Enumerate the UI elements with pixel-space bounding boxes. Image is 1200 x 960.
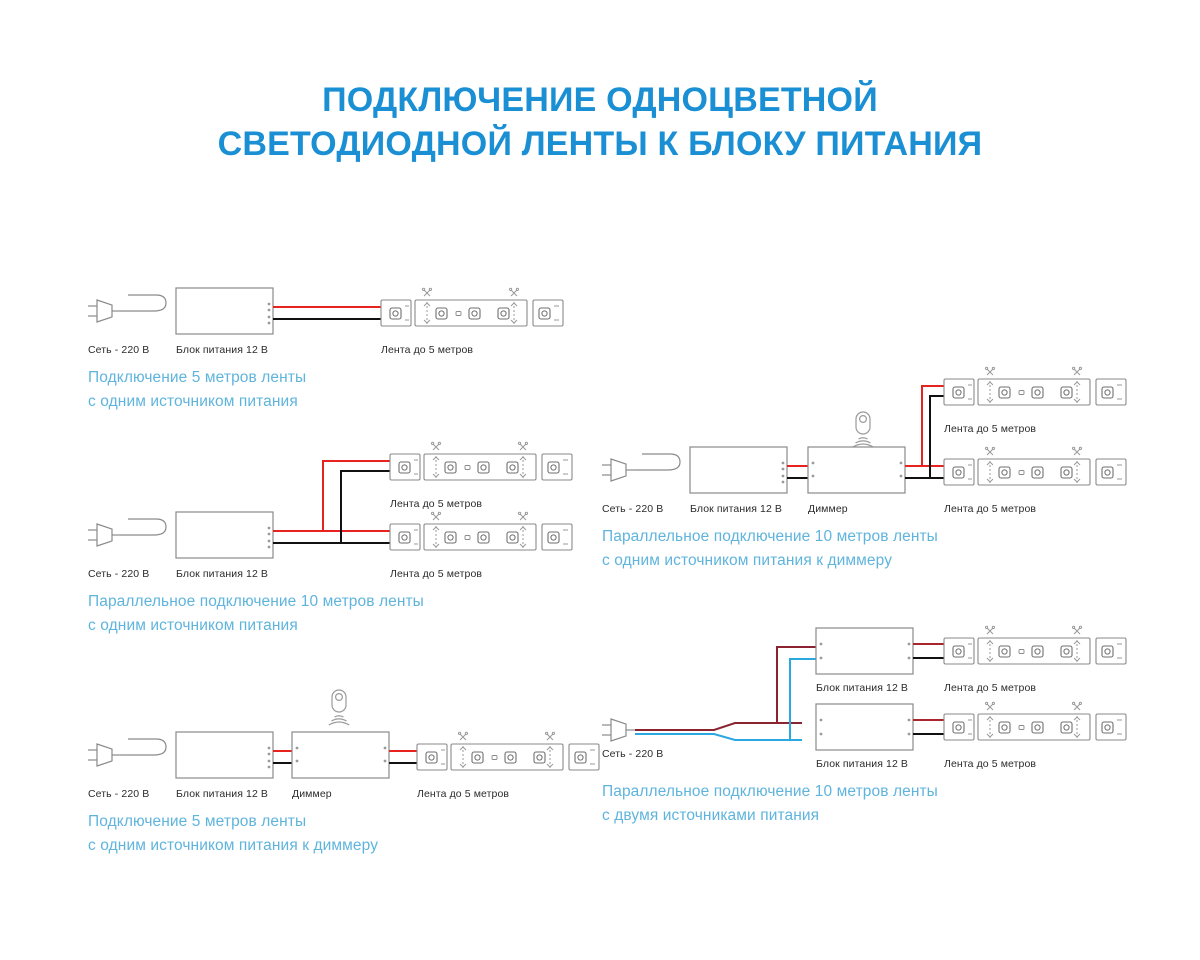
dc-wires-lower	[913, 720, 947, 734]
led-strip-upper	[390, 442, 572, 480]
dc-wires	[273, 307, 384, 319]
psu-to-dimmer-wires	[273, 751, 293, 763]
diagram-single-strip-one-psu-dimmer: Сеть - 220 В Блок питания 12 В Диммер Ле…	[88, 690, 608, 840]
power-supply-unit	[176, 288, 273, 334]
label-strip: Лента до 5 метров	[381, 344, 473, 356]
plug-icon	[88, 519, 166, 546]
led-strip	[381, 288, 563, 326]
diagram-1-schematic	[88, 286, 588, 356]
led-strip-upper	[944, 367, 1126, 405]
led-strip	[417, 732, 599, 770]
diagram-4-schematic	[602, 365, 1162, 505]
infographic-page: ПОДКЛЮЧЕНИЕ ОДНОЦВЕТНОЙ СВЕТОДИОДНОЙ ЛЕН…	[0, 0, 1200, 960]
label-strip-lower: Лента до 5 метров	[390, 568, 482, 580]
plug-icon	[88, 295, 166, 322]
plug-icon	[88, 739, 166, 766]
dimmer-to-strip-wires	[389, 751, 420, 763]
power-supply-unit-upper	[816, 628, 913, 674]
diagram-parallel-two-strips-one-psu: Сеть - 220 В Блок питания 12 В Лента до …	[88, 440, 608, 620]
dc-wires-branching	[905, 386, 947, 478]
diagram-2-schematic	[88, 440, 608, 570]
label-psu-upper: Блок питания 12 В	[816, 682, 908, 694]
label-strip-upper: Лента до 5 метров	[944, 423, 1036, 435]
label-mains: Сеть - 220 В	[602, 503, 663, 515]
plug-icon	[602, 454, 680, 481]
power-supply-unit	[176, 732, 273, 778]
diagram-parallel-two-strips-one-psu-dimmer: Сеть - 220 В Блок питания 12 В Диммер Ле…	[602, 365, 1162, 565]
power-supply-unit-lower	[816, 704, 913, 750]
label-psu: Блок питания 12 В	[176, 788, 268, 800]
label-mains: Сеть - 220 В	[88, 568, 149, 580]
power-supply-unit	[176, 512, 273, 558]
diagram-single-strip-one-psu: Сеть - 220 В Блок питания 12 В Лента до …	[88, 286, 588, 406]
label-strip: Лента до 5 метров	[417, 788, 509, 800]
dc-wires-branching	[273, 461, 393, 543]
remote-control-icon	[329, 690, 349, 725]
label-psu: Блок питания 12 В	[690, 503, 782, 515]
label-strip-upper: Лента до 5 метров	[390, 498, 482, 510]
led-strip-lower	[944, 447, 1126, 485]
power-supply-unit	[690, 447, 787, 493]
led-strip-lower	[944, 702, 1126, 740]
remote-control-icon	[853, 412, 873, 447]
label-dimmer: Диммер	[292, 788, 332, 800]
diagram-parallel-two-strips-two-psu: Сеть - 220 В Блок питания 12 В Блок пита…	[602, 620, 1162, 830]
diagram-caption: Подключение 5 метров ленты с одним источ…	[88, 366, 306, 414]
label-psu: Блок питания 12 В	[176, 344, 268, 356]
label-dimmer: Диммер	[808, 503, 848, 515]
dimmer-unit	[292, 732, 389, 778]
title-line-2: СВЕТОДИОДНОЙ ЛЕНТЫ К БЛОКУ ПИТАНИЯ	[0, 122, 1200, 166]
diagram-caption: Параллельное подключение 10 метров ленты…	[88, 590, 424, 638]
diagram-5-schematic	[602, 620, 1162, 775]
label-strip-lower: Лента до 5 метров	[944, 503, 1036, 515]
label-mains: Сеть - 220 В	[88, 788, 149, 800]
title-line-1: ПОДКЛЮЧЕНИЕ ОДНОЦВЕТНОЙ	[322, 81, 878, 119]
diagram-3-schematic	[88, 690, 608, 800]
diagram-caption: Подключение 5 метров ленты с одним источ…	[88, 810, 378, 858]
plug-icon	[602, 719, 635, 741]
diagram-caption: Параллельное подключение 10 метров ленты…	[602, 525, 938, 573]
psu-to-dimmer-wires	[787, 466, 809, 478]
label-strip-upper: Лента до 5 метров	[944, 682, 1036, 694]
diagram-caption: Параллельное подключение 10 метров ленты…	[602, 780, 938, 828]
label-psu: Блок питания 12 В	[176, 568, 268, 580]
led-strip-lower	[390, 512, 572, 550]
page-title: ПОДКЛЮЧЕНИЕ ОДНОЦВЕТНОЙ СВЕТОДИОДНОЙ ЛЕН…	[0, 78, 1200, 166]
label-mains: Сеть - 220 В	[88, 344, 149, 356]
dimmer-unit	[808, 447, 905, 493]
ac-wires	[635, 647, 817, 740]
dc-wires-upper	[913, 644, 947, 658]
label-psu-lower: Блок питания 12 В	[816, 758, 908, 770]
led-strip-upper	[944, 626, 1126, 664]
label-mains: Сеть - 220 В	[602, 748, 663, 760]
label-strip-lower: Лента до 5 метров	[944, 758, 1036, 770]
